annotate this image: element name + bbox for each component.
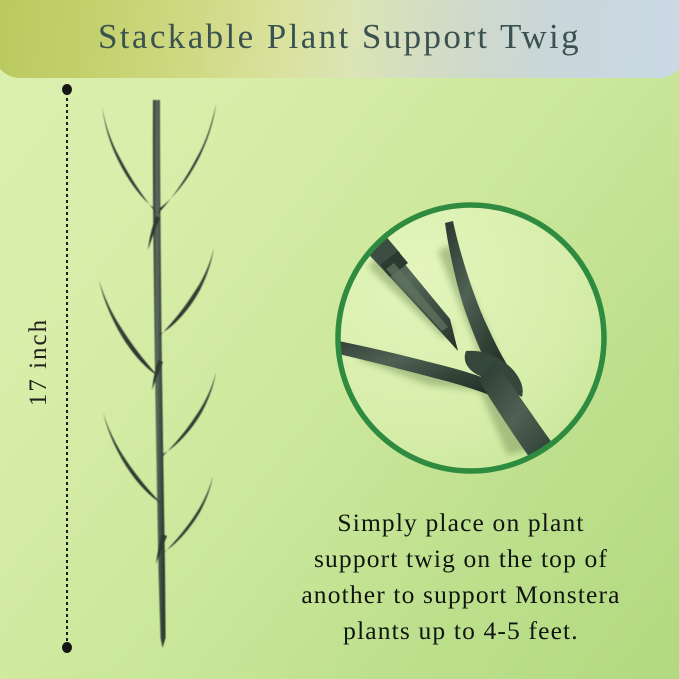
twig-branch-right-3 <box>161 372 216 458</box>
dimension-dotted-line <box>66 92 68 652</box>
description-line-1: Simply place on plant <box>243 505 679 541</box>
twig-branch-right-4 <box>162 476 213 555</box>
twig-branch-left-2 <box>99 280 158 376</box>
infographic-page: Stackable Plant Support Twig 17 inch <box>0 0 679 679</box>
description-text: Simply place on plant support twig on th… <box>243 505 679 649</box>
twig-branch-upper-left <box>102 106 157 214</box>
dimension-endpoint-dot-bottom <box>62 642 72 653</box>
twig-branch-left-3 <box>103 412 162 504</box>
twig-branch-right-2 <box>158 248 214 338</box>
dimension-label: 17 inch <box>25 287 53 437</box>
description-line-2: support twig on the top of <box>243 541 679 577</box>
zoom-detail-circle <box>332 199 610 479</box>
page-title: Stackable Plant Support Twig <box>0 0 679 78</box>
description-line-4: plants up to 4-5 feet. <box>243 613 679 649</box>
detail-illustration <box>332 199 610 479</box>
description-line-3: another to support Monstera <box>243 577 679 613</box>
twig-branch-upper-right <box>158 104 216 214</box>
